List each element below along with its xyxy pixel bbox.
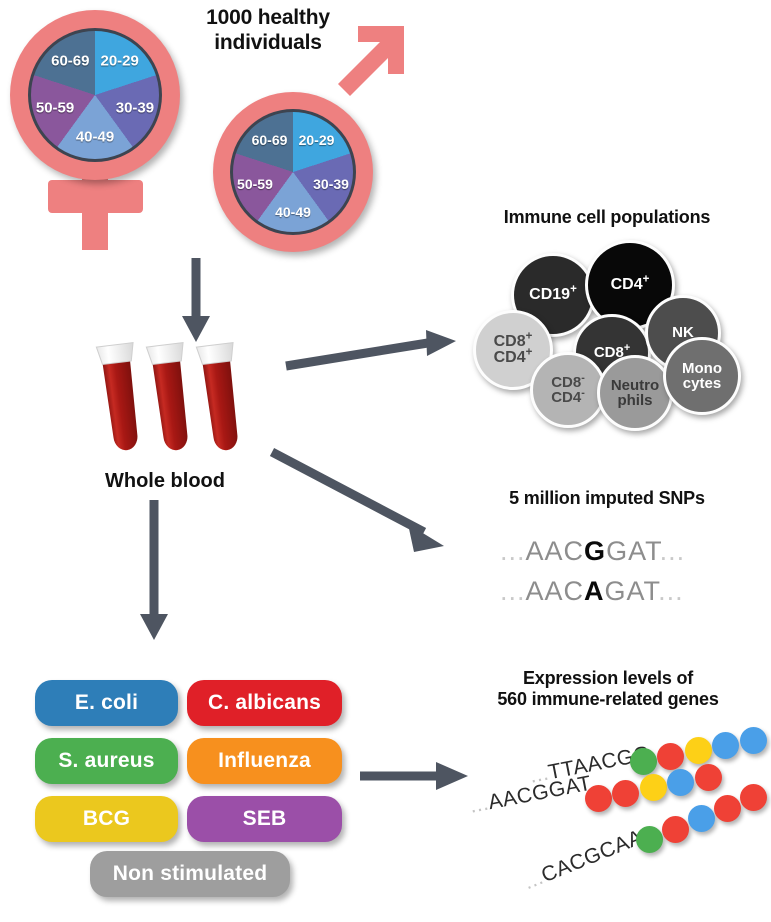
stimulus-non-stimulated[interactable]: Non stimulated	[90, 851, 290, 897]
expression-bead	[667, 769, 694, 796]
stimulus-seb[interactable]: SEB	[187, 796, 342, 842]
immune-cell-label: CD19+	[529, 287, 577, 303]
expression-bead	[740, 727, 767, 754]
stimulus-label: C. albicans	[208, 691, 321, 715]
age-group-label-40-49: 40-49	[275, 204, 311, 220]
age-group-label-50-59: 50-59	[36, 99, 74, 116]
diagram-canvas: 1000 healthy individuals 20-2930-3940-49…	[0, 0, 771, 922]
immune-section-title: Immune cell populations	[452, 207, 762, 228]
expression-bead	[712, 732, 739, 759]
snp-sequence-1: ...AACGGAT...	[500, 536, 685, 567]
arrow-blood-to-snps	[272, 452, 457, 562]
expression-bead	[585, 785, 612, 812]
arrow-stimuli-to-expression	[360, 758, 470, 794]
immune-cell-label: Monocytes	[682, 361, 722, 392]
snp-sequence-2: ...AACAGAT...	[500, 576, 684, 607]
stimulus-influenza[interactable]: Influenza	[187, 738, 342, 784]
stimulus-c-albicans[interactable]: C. albicans	[187, 680, 342, 726]
expression-bead	[740, 784, 767, 811]
expression-bead	[612, 780, 639, 807]
stimulus-label: Non stimulated	[113, 862, 267, 886]
age-group-label-30-39: 30-39	[116, 99, 154, 116]
arrow-blood-to-stimuli	[135, 500, 175, 645]
immune-cell-label: CD4+	[611, 277, 650, 293]
immune-cell-monocytes[interactable]: Monocytes	[663, 337, 741, 415]
expression-bead	[662, 816, 689, 843]
expression-bead	[657, 743, 684, 770]
expression-sequence-3: ...CACGCAA	[521, 826, 647, 896]
immune-cell-label: Neutrophils	[611, 378, 659, 409]
snps-section-title: 5 million imputed SNPs	[452, 488, 762, 509]
expression-bead	[685, 737, 712, 764]
expression-section-title: Expression levels of 560 immune-related …	[452, 668, 764, 710]
expression-title-line1: Expression levels of	[452, 668, 764, 689]
expression-title-line2: 560 immune-related genes	[452, 689, 764, 710]
arrow-blood-to-immune	[286, 330, 461, 380]
stimulus-s-aureus[interactable]: S. aureus	[35, 738, 178, 784]
age-group-label-50-59: 50-59	[237, 176, 273, 192]
expression-bead	[714, 795, 741, 822]
age-group-label-60-69: 60-69	[252, 132, 288, 148]
age-group-label-60-69: 60-69	[51, 53, 89, 70]
age-group-label-30-39: 30-39	[313, 176, 349, 192]
stimulus-label: Influenza	[218, 749, 311, 773]
expression-bead	[695, 764, 722, 791]
stimulus-label: S. aureus	[58, 749, 154, 773]
stimulus-label: SEB	[243, 807, 287, 831]
immune-cell-cd8-cd4-[interactable]: CD8-CD4-	[530, 352, 606, 428]
age-group-label-40-49: 40-49	[76, 129, 114, 146]
expression-bead	[630, 748, 657, 775]
stimulus-label: E. coli	[75, 691, 138, 715]
expression-bead	[688, 805, 715, 832]
immune-cell-neutrophils[interactable]: Neutrophils	[597, 355, 673, 431]
expression-bead	[640, 774, 667, 801]
immune-cell-label: CD8+CD4+	[494, 334, 533, 367]
female-crossbar	[48, 180, 143, 213]
whole-blood-label: Whole blood	[60, 470, 270, 493]
age-group-label-20-29: 20-29	[100, 53, 138, 70]
expression-bead	[636, 826, 663, 853]
immune-cell-label: CD8-CD4-	[551, 375, 585, 406]
stimulus-label: BCG	[83, 807, 130, 831]
arrow-cohort-to-blood	[178, 258, 218, 348]
stimulus-bcg[interactable]: BCG	[35, 796, 178, 842]
age-group-label-20-29: 20-29	[299, 132, 335, 148]
stimulus-e-coli[interactable]: E. coli	[35, 680, 178, 726]
